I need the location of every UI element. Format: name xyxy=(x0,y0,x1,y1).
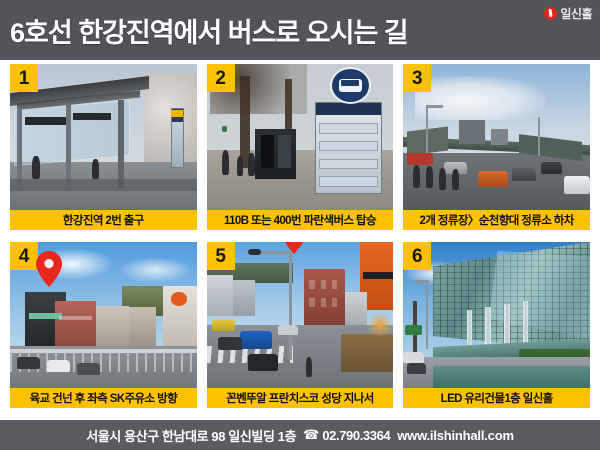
step-number-badge: 6 xyxy=(403,242,431,270)
step-number-badge: 2 xyxy=(207,64,235,92)
step-card: 6 LED 유리건물1층 일신홀 xyxy=(403,242,590,408)
brand-logo: 일신홀 xyxy=(544,5,592,22)
step-card: 2 110B 또는 400번 파란색버스 탑승 xyxy=(207,64,394,230)
footer-phone-number: 02.790.3364 xyxy=(322,428,390,443)
step-card: 5 꼰벤뚜알 프란치스코 성당 지나서 xyxy=(207,242,394,408)
step-caption: 2개 정류장〉순천향대 정류소 하차 xyxy=(403,210,590,230)
step-card: 3 2개 정류장〉순천향대 정류소 하차 xyxy=(403,64,590,230)
page-header: 6호선 한강진역에서 버스로 오시는 길 일신홀 xyxy=(0,0,600,60)
step-card: 1 한강진역 2번 출구 xyxy=(10,64,197,230)
step-number-badge: 4 xyxy=(10,242,38,270)
step-caption: 꼰벤뚜알 프란치스코 성당 지나서 xyxy=(207,388,394,408)
map-pin-icon xyxy=(281,242,307,254)
step-caption: 110B 또는 400번 파란색버스 탑승 xyxy=(207,210,394,230)
step-card: 4 육교 건넌 후 좌측 SK주유소 방향 xyxy=(10,242,197,408)
phone-icon: ☎ xyxy=(303,427,319,443)
step-photo xyxy=(10,242,197,390)
page-title: 6호선 한강진역에서 버스로 오시는 길 xyxy=(10,11,408,50)
map-pin-icon xyxy=(36,251,62,287)
steps-grid: 1 한강진역 2번 출구 xyxy=(10,64,590,408)
step-caption: 육교 건넌 후 좌측 SK주유소 방향 xyxy=(10,388,197,408)
brand-mark-icon xyxy=(544,7,557,20)
step-number-badge: 3 xyxy=(403,64,431,92)
step-caption: 한강진역 2번 출구 xyxy=(10,210,197,230)
footer-address: 서울시 용산구 한남대로 98 일신빌딩 1층 xyxy=(86,426,296,445)
footer-website[interactable]: www.ilshinhall.com xyxy=(397,428,514,443)
page-footer: 서울시 용산구 한남대로 98 일신빌딩 1층 ☎ 02.790.3364 ww… xyxy=(0,420,600,450)
infographic-page: 6호선 한강진역에서 버스로 오시는 길 일신홀 xyxy=(0,0,600,450)
brand-name: 일신홀 xyxy=(560,5,592,22)
step-photo xyxy=(207,64,394,212)
bus-sign-icon xyxy=(330,67,371,104)
step-photo xyxy=(403,242,590,390)
step-caption: LED 유리건물1층 일신홀 xyxy=(403,388,590,408)
step-photo xyxy=(403,64,590,212)
footer-phone: ☎ 02.790.3364 xyxy=(303,427,390,443)
step-photo xyxy=(207,242,394,390)
step-number-badge: 1 xyxy=(10,64,38,92)
step-number-badge: 5 xyxy=(207,242,235,270)
